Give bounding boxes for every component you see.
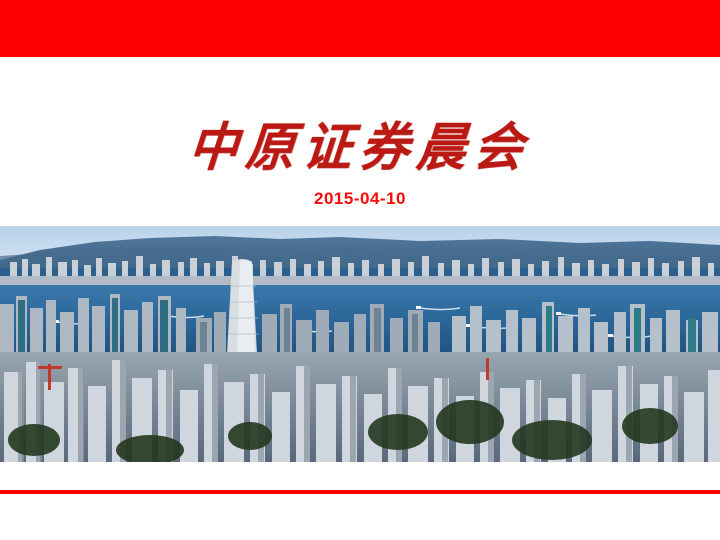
footer: 中原证券 CENTRAL CHINA SECURITIES 香港上市公司 名称及… bbox=[0, 494, 720, 540]
presentation-slide: 中原证券晨会 2015-04-10 bbox=[0, 0, 720, 540]
slide-date: 2015-04-10 bbox=[0, 189, 720, 209]
top-red-banner bbox=[0, 0, 720, 57]
page-title: 中原证券晨会 bbox=[0, 116, 720, 177]
hero-image-hong-kong-skyline bbox=[0, 226, 720, 462]
skyline-illustration bbox=[0, 226, 720, 462]
title-block: 中原证券晨会 2015-04-10 bbox=[0, 118, 720, 209]
